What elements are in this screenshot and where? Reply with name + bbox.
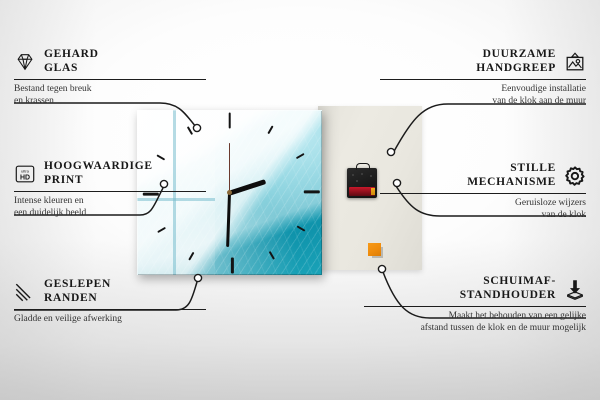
feature-duurzame-handgreep: DUURZAMEHANDGREEP Eenvoudige installatie… xyxy=(380,48,586,107)
feature-description: Maakt het behouden van een gelijkeafstan… xyxy=(364,311,586,334)
feature-description: Bestand tegen breuken krassen xyxy=(14,84,206,107)
feature-geslepen-randen: GESLEPENRANDEN Gladde en veilige afwerki… xyxy=(14,278,206,326)
svg-text:HD: HD xyxy=(20,174,30,181)
down-arrow-pad-icon xyxy=(564,278,586,300)
feature-head: ultra HD HOOGWAARDIGEPRINT xyxy=(14,160,206,187)
feature-title: STILLEMECHANISME xyxy=(467,162,556,189)
feature-rule xyxy=(14,79,206,80)
diamond-icon xyxy=(14,51,36,73)
feature-description: Intense kleuren eneen duidelijk beeld xyxy=(14,196,206,219)
clock-mechanism xyxy=(347,168,377,198)
feature-head: DUURZAMEHANDGREEP xyxy=(380,48,586,75)
feature-description: Gladde en veilige afwerking xyxy=(14,314,206,326)
feature-hoogwaardige-print: ultra HD HOOGWAARDIGEPRINT Intense kleur… xyxy=(14,160,206,219)
feature-description: Eenvoudige installatievan de klok aan de… xyxy=(380,84,586,107)
feature-rule xyxy=(14,309,206,310)
battery xyxy=(349,187,375,196)
feature-rule xyxy=(364,306,586,307)
feature-head: STILLEMECHANISME xyxy=(380,162,586,189)
feature-head: SCHUIMAF-STANDHOUDER xyxy=(364,275,586,302)
feature-head: GEHARDGLAS xyxy=(14,48,206,75)
feature-title: SCHUIMAF-STANDHOUDER xyxy=(460,275,556,302)
feature-title: GEHARDGLAS xyxy=(44,48,99,75)
feature-rule xyxy=(380,79,586,80)
feature-schuimaf-standhouder: SCHUIMAF-STANDHOUDER Maakt het behouden … xyxy=(364,275,586,334)
feature-description: Geruisloze wijzersvan de klok xyxy=(380,198,586,221)
feature-rule xyxy=(14,191,206,192)
mechanism-screws xyxy=(350,172,374,183)
feature-title: DUURZAMEHANDGREEP xyxy=(476,48,556,75)
feature-title: GESLEPENRANDEN xyxy=(44,278,111,305)
ultra-hd-icon: ultra HD xyxy=(14,163,36,185)
gear-icon xyxy=(564,165,586,187)
feature-gehard-glas: GEHARDGLAS Bestand tegen breuken krassen xyxy=(14,48,206,107)
feature-stille-mechanisme: STILLEMECHANISME Geruisloze wijzersvan d… xyxy=(380,162,586,221)
bevelled-edges-icon xyxy=(14,281,36,303)
feature-title: HOOGWAARDIGEPRINT xyxy=(44,160,153,187)
foam-standoff-pad xyxy=(368,243,381,256)
feature-head: GESLEPENRANDEN xyxy=(14,278,206,305)
feature-rule xyxy=(380,193,586,194)
framed-picture-icon xyxy=(564,51,586,73)
product-infographic: GEHARDGLAS Bestand tegen breuken krassen… xyxy=(0,0,600,400)
mechanism-hanger xyxy=(356,163,370,170)
svg-text:ultra: ultra xyxy=(21,168,30,173)
